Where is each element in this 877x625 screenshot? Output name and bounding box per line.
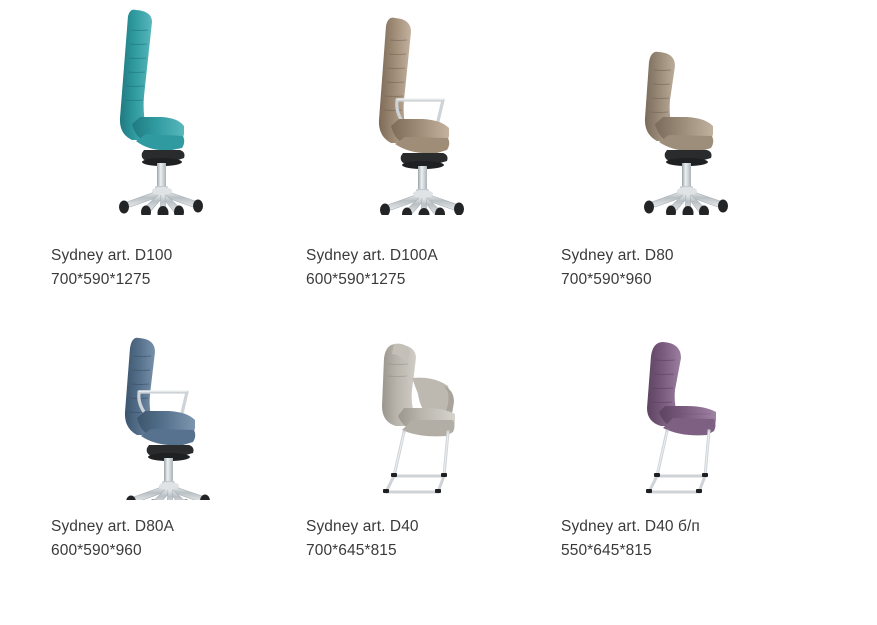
product-caption: Sydney art. D100A 600*590*1275: [306, 244, 438, 292]
product-catalog-grid: Sydney art. D100 700*590*1275: [0, 0, 877, 625]
product-name: Sydney art. D40: [306, 515, 419, 539]
product-caption: Sydney art. D80A 600*590*960: [51, 515, 174, 563]
product-dimensions: 600*590*960: [51, 539, 174, 563]
product-card[interactable]: Sydney art. D80A 600*590*960: [51, 320, 306, 625]
product-dimensions: 700*590*1275: [51, 268, 172, 292]
product-card[interactable]: Sydney art. D40 700*645*815: [306, 320, 561, 625]
product-caption: Sydney art. D80 700*590*960: [561, 244, 674, 292]
product-image-d80[interactable]: [561, 0, 776, 225]
product-caption: Sydney art. D40 б/п 550*645*815: [561, 515, 700, 563]
product-name: Sydney art. D100: [51, 244, 172, 268]
product-name: Sydney art. D80: [561, 244, 674, 268]
product-name: Sydney art. D80A: [51, 515, 174, 539]
product-image-d100[interactable]: [51, 0, 266, 225]
product-name: Sydney art. D100A: [306, 244, 438, 268]
product-image-d100a[interactable]: [306, 0, 521, 225]
product-dimensions: 700*645*815: [306, 539, 419, 563]
product-dimensions: 600*590*1275: [306, 268, 438, 292]
product-card[interactable]: Sydney art. D100 700*590*1275: [51, 0, 306, 320]
product-card[interactable]: Sydney art. D80 700*590*960: [561, 0, 877, 320]
product-image-d40-bp[interactable]: [561, 320, 776, 510]
product-image-d40[interactable]: [306, 320, 521, 510]
product-name: Sydney art. D40 б/п: [561, 515, 700, 539]
product-caption: Sydney art. D100 700*590*1275: [51, 244, 172, 292]
sled-base-side-chair-icon: [623, 320, 743, 500]
high-back-executive-chair-icon: [106, 0, 226, 215]
mid-back-executive-chair-icon: [623, 0, 743, 215]
high-back-executive-chair-with-arms-icon: [361, 0, 486, 215]
product-dimensions: 700*590*960: [561, 268, 674, 292]
product-dimensions: 550*645*815: [561, 539, 700, 563]
product-card[interactable]: Sydney art. D40 б/п 550*645*815: [561, 320, 877, 625]
sled-base-armchair-icon: [364, 320, 484, 500]
product-image-d80a[interactable]: [51, 320, 266, 510]
product-caption: Sydney art. D40 700*645*815: [306, 515, 419, 563]
mid-back-executive-chair-with-arms-icon: [107, 320, 232, 500]
product-card[interactable]: Sydney art. D100A 600*590*1275: [306, 0, 561, 320]
